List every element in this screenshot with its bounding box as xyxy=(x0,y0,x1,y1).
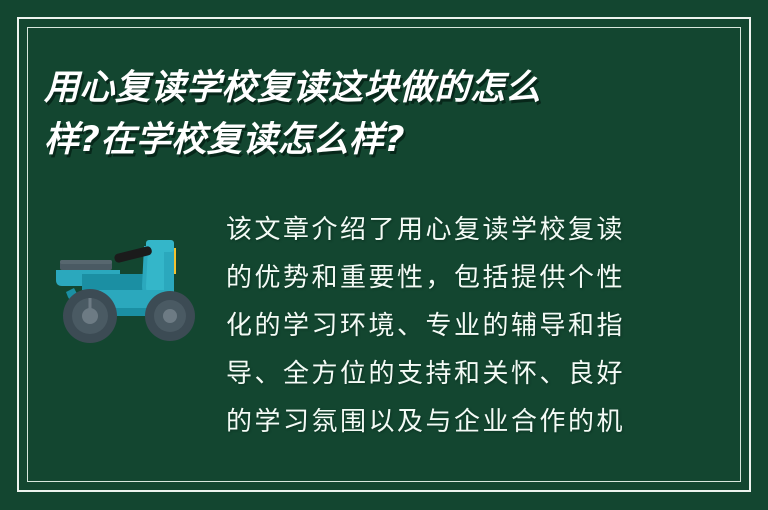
promo-card: 用心复读学校复读这块做的怎么 样?在学校复读怎么样? xyxy=(0,0,768,510)
body-line-5: 的学习氛围以及与企业合作的机 xyxy=(226,398,678,446)
body-line-3: 化的学习环境、专业的辅导和指 xyxy=(226,302,678,350)
scooter-illustration xyxy=(52,212,204,352)
body-paragraph: 该文章介绍了用心复读学校复读 的优势和重要性，包括提供个性 化的学习环境、专业的… xyxy=(226,206,678,446)
page-title: 用心复读学校复读这块做的怎么 样?在学校复读怎么样? xyxy=(44,62,704,166)
body-line-2: 的优势和重要性，包括提供个性 xyxy=(226,254,678,302)
body-line-1: 该文章介绍了用心复读学校复读 xyxy=(226,206,678,254)
page-title-line-2: 样?在学校复读怎么样? xyxy=(44,114,704,166)
page-title-line-1: 用心复读学校复读这块做的怎么 xyxy=(44,62,704,114)
body-line-4: 导、全方位的支持和关怀、良好 xyxy=(226,350,678,398)
